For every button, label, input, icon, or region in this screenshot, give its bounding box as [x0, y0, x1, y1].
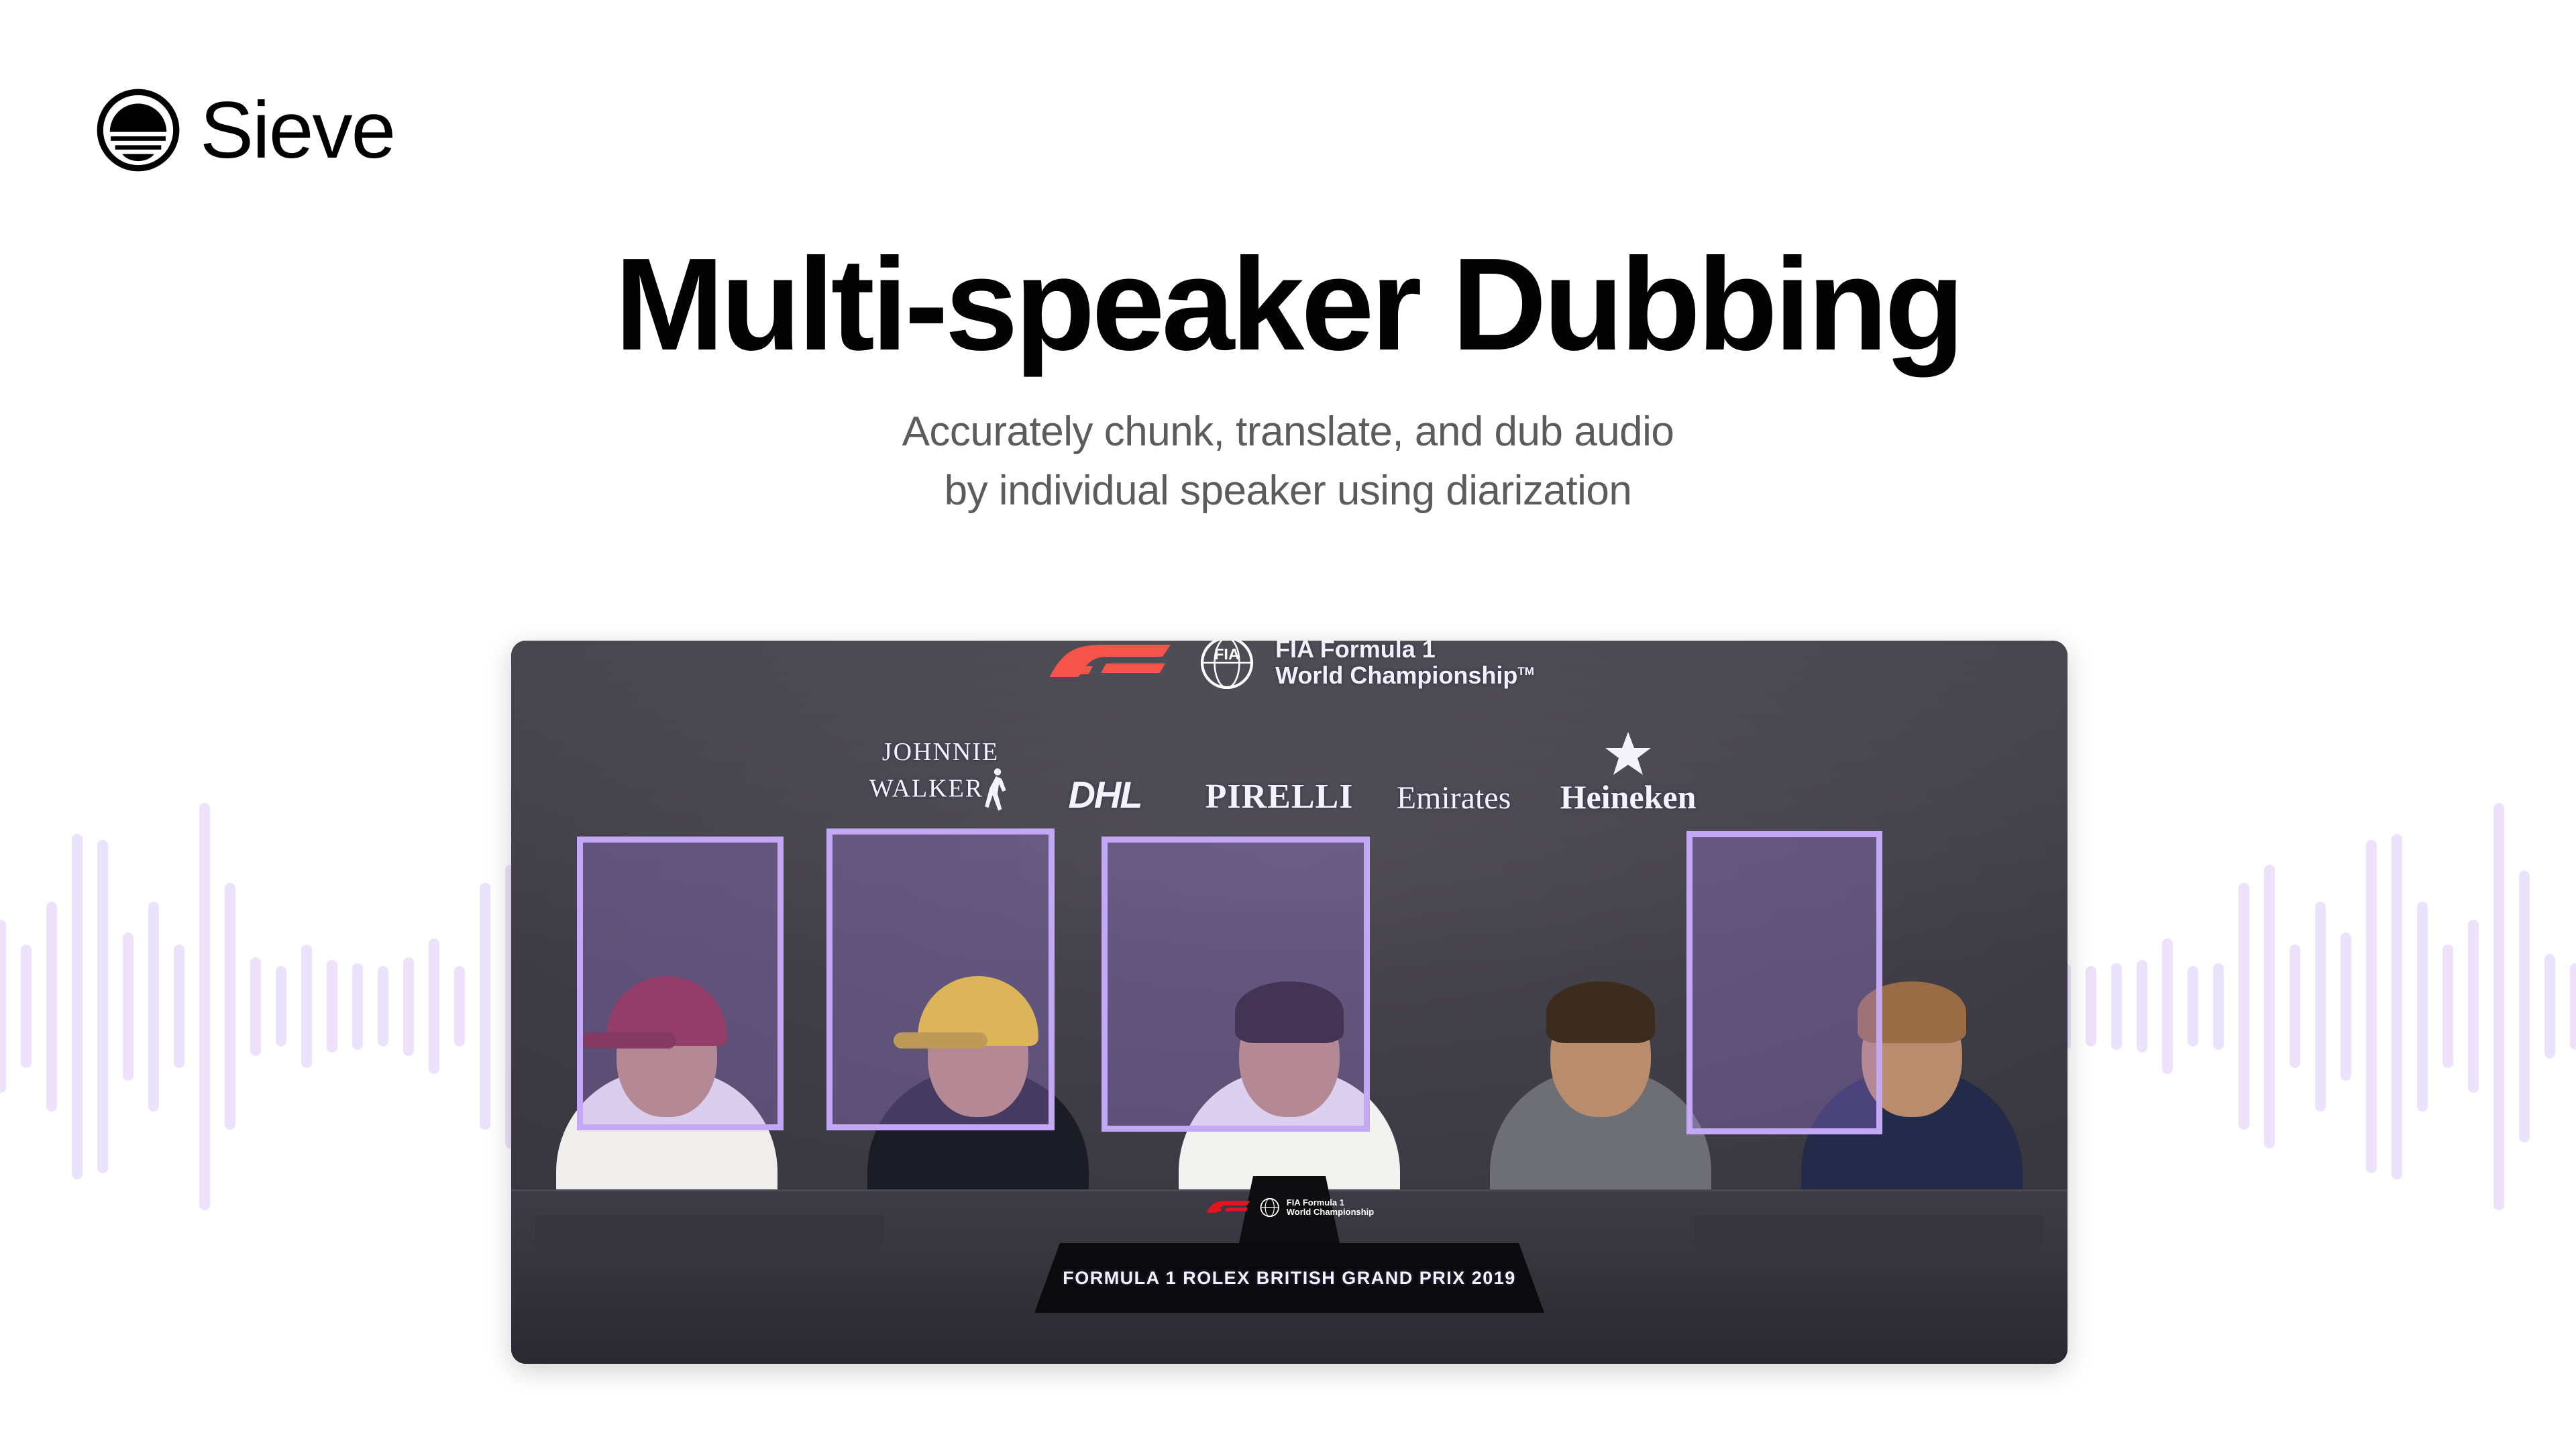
page-title: Multi-speaker Dubbing: [0, 236, 2576, 373]
waveform-bar: [2468, 920, 2479, 1093]
hero-headings: Multi-speaker Dubbing Accurately chunk, …: [0, 236, 2576, 521]
sponsor-heineken: Heineken: [1538, 731, 1719, 816]
waveform-bar: [2392, 834, 2402, 1179]
waveform-bar: [123, 932, 133, 1081]
waveform-bar: [480, 883, 490, 1130]
waveform-bar: [2315, 902, 2326, 1112]
sponsor-johnnie-walker-line1: JOHNNIE: [860, 739, 1021, 765]
desk-panel-right: [1695, 1215, 2043, 1246]
waveform-bar: [21, 945, 32, 1068]
sponsor-heineken-name: Heineken: [1560, 778, 1697, 816]
video-preview-card[interactable]: FIA FIA Formula 1 World ChampionshipTM J…: [511, 641, 2068, 1364]
striding-man-icon: [983, 765, 1012, 816]
podium-logo-text: FIA Formula 1 World Championship: [1287, 1198, 1374, 1218]
press-conference-desk: FIA Formula 1 World Championship FORMULA…: [511, 1189, 2068, 1364]
waveform-bar: [2086, 966, 2096, 1046]
waveform-bar: [2188, 966, 2198, 1046]
star-icon: [1604, 731, 1652, 776]
desk-panel-left: [535, 1215, 884, 1246]
waveform-bar: [2239, 883, 2249, 1130]
waveform-bar: [429, 938, 439, 1074]
waveform-bar: [199, 803, 210, 1210]
svg-text:FIA: FIA: [1214, 645, 1240, 663]
waveform-bar: [2213, 963, 2224, 1050]
waveform-bar: [148, 902, 159, 1112]
waveform-bar: [454, 966, 465, 1046]
waveform-bar: [327, 960, 337, 1053]
sponsor-band: JOHNNIE WALKER DHL PIRELLI Emirates Hein…: [511, 760, 2068, 816]
waveform-bar: [2341, 932, 2351, 1081]
waveform-bar: [301, 945, 312, 1068]
sponsor-johnnie-walker-line2: WALKER: [869, 775, 983, 803]
waveform-bar: [250, 957, 261, 1056]
broadcast-line-2: World Championship: [1275, 661, 1517, 689]
waveform-bar: [225, 883, 235, 1130]
podium-logo: FIA Formula 1 World Championship: [1205, 1197, 1374, 1218]
broadcast-line-1: FIA Formula 1: [1275, 641, 1534, 663]
waveform-bar: [2443, 945, 2453, 1068]
waveform-bar: [2570, 963, 2576, 1050]
waveform-bar: [352, 963, 363, 1050]
waveform-bar: [46, 902, 57, 1112]
fia-badge-icon: FIA: [1199, 641, 1255, 691]
waveform-bar: [2366, 840, 2377, 1173]
speaker-cap: [918, 976, 1038, 1046]
waveform-bar: [2493, 803, 2504, 1210]
sponsor-johnnie-walker: JOHNNIE WALKER: [860, 739, 1021, 816]
sponsor-pirelli: PIRELLI: [1189, 777, 1370, 816]
speaker-hair: [1546, 981, 1655, 1043]
subtitle-line-1: Accurately chunk, translate, and dub aud…: [0, 402, 2576, 462]
event-banner-text: FORMULA 1 ROLEX BRITISH GRAND PRIX 2019: [1063, 1268, 1516, 1289]
waveform-bar: [2111, 963, 2122, 1050]
waveform-bar: [2290, 945, 2300, 1068]
waveform-bar: [2264, 865, 2275, 1148]
broadcast-header-text: FIA Formula 1 World ChampionshipTM: [1275, 641, 1534, 689]
waveform-left: [67, 671, 523, 1342]
speaker-cap: [606, 976, 727, 1046]
sieve-sunset-circle-icon: [94, 86, 182, 174]
fia-badge-icon: [1260, 1197, 1280, 1218]
waveform-bar: [378, 966, 388, 1046]
sponsor-emirates: Emirates: [1370, 780, 1538, 816]
broadcast-header: FIA FIA Formula 1 World ChampionshipTM: [511, 641, 2068, 688]
f1-logo-icon: [1044, 643, 1179, 682]
podium-line-2: World Championship: [1287, 1207, 1374, 1217]
brand-name: Sieve: [200, 90, 394, 170]
waveform-bar: [403, 957, 414, 1056]
waveform-bar: [276, 966, 286, 1046]
waveform-bar: [2417, 902, 2428, 1112]
waveform-bar: [2519, 871, 2530, 1142]
waveform-bar: [97, 840, 108, 1173]
page-subtitle: Accurately chunk, translate, and dub aud…: [0, 402, 2576, 521]
waveform-right: [2053, 671, 2509, 1342]
waveform-bar: [2544, 954, 2555, 1059]
subtitle-line-2: by individual speaker using diarization: [0, 462, 2576, 521]
hero-page: Sieve Multi-speaker Dubbing Accurately c…: [0, 0, 2576, 1449]
event-banner: FORMULA 1 ROLEX BRITISH GRAND PRIX 2019: [1034, 1243, 1544, 1313]
trademark: TM: [1517, 665, 1534, 678]
podium-line-1: FIA Formula 1: [1287, 1198, 1374, 1207]
brand-logo[interactable]: Sieve: [94, 86, 394, 174]
waveform-bar: [0, 920, 6, 1093]
speaker-hair: [1235, 981, 1344, 1043]
waveform-bar: [72, 834, 83, 1179]
speaker-hair: [1858, 981, 1966, 1043]
waveform-bar: [174, 945, 184, 1068]
f1-logo-icon: [1205, 1200, 1253, 1215]
waveform-bar: [2137, 960, 2147, 1053]
waveform-bar: [2162, 938, 2173, 1074]
sponsor-dhl: DHL: [1021, 773, 1189, 816]
